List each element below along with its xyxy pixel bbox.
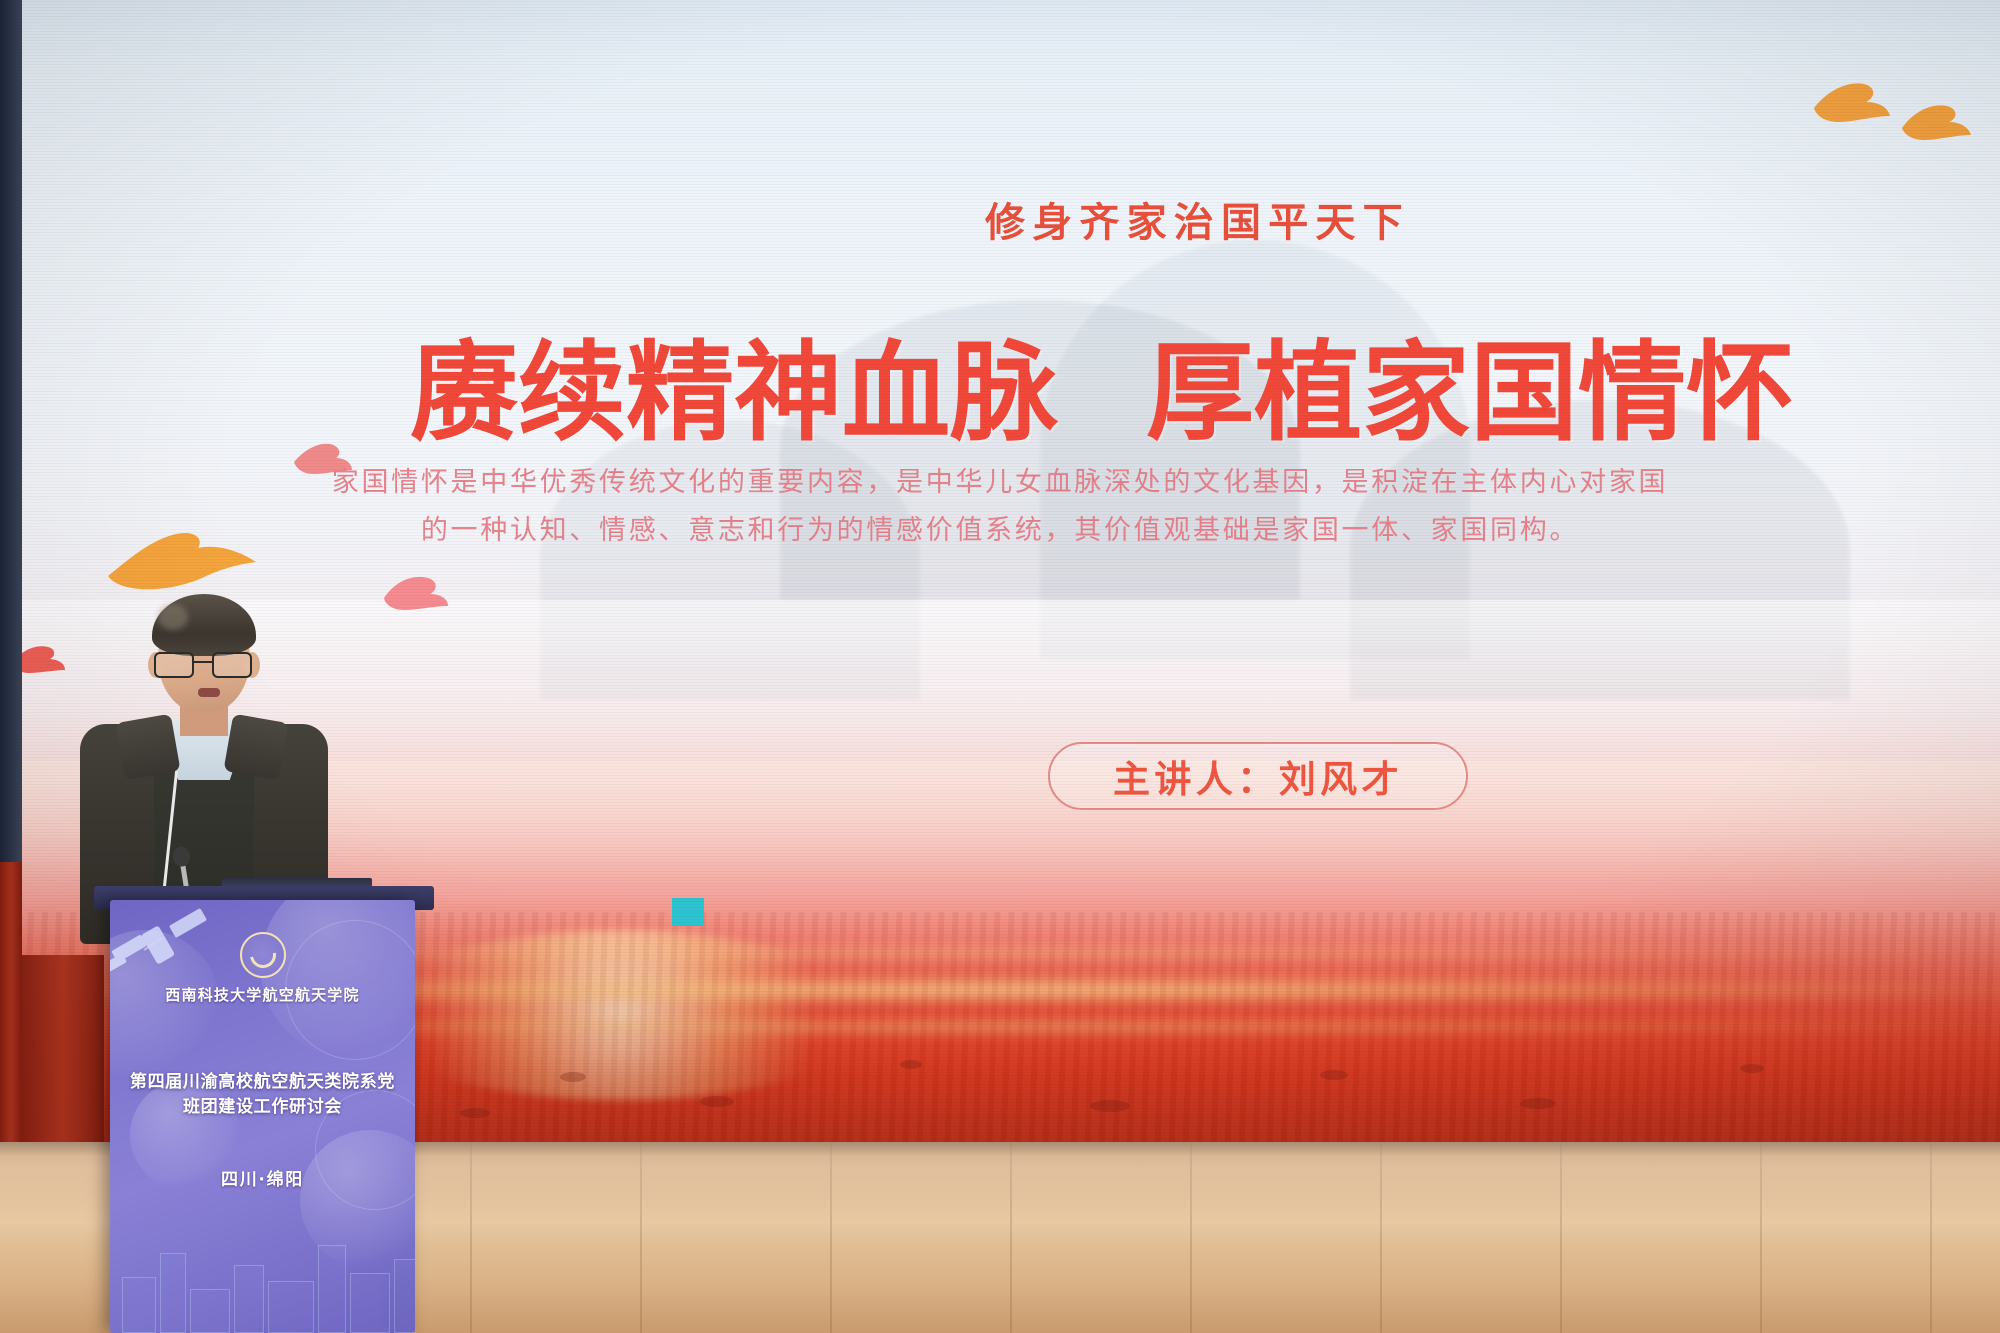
field-speck bbox=[700, 1096, 734, 1107]
podium-location: 四川·绵阳 bbox=[110, 1165, 415, 1190]
dove-pink-right-icon bbox=[380, 572, 450, 614]
hair bbox=[152, 594, 256, 656]
glasses-icon bbox=[154, 652, 254, 678]
field-speck bbox=[1740, 1064, 1764, 1073]
field-speck bbox=[1320, 1070, 1348, 1080]
swust-emblem-icon bbox=[240, 932, 286, 978]
screen-body-line-1: 家国情怀是中华优秀传统文化的重要内容，是中华儿女血脉深处的文化基因，是积淀在主体… bbox=[0, 460, 2000, 499]
field-speck bbox=[560, 1072, 586, 1082]
main-title-right: 厚植家国情怀 bbox=[1146, 330, 1794, 456]
left-red-curtain bbox=[22, 955, 104, 1145]
screen-body-line-2: 的一种认知、情感、意志和行为的情感价值系统，其价值观基础是家国一体、家国同构。 bbox=[0, 508, 2000, 547]
podium-university-name: 西南科技大学航空航天学院 bbox=[110, 984, 415, 1005]
field-speck bbox=[460, 1108, 490, 1118]
photo-stage: 修身齐家治国平天下 赓续精神血脉厚植家国情怀 家国情怀是中华优秀传统文化的重要内… bbox=[0, 0, 2000, 1333]
podium-panel: 西南科技大学航空航天学院 第四届川渝高校航空航天类院系党 班团建设工作研讨会 四… bbox=[110, 900, 415, 1333]
dove-orange-top-right-2-icon bbox=[1898, 100, 1974, 146]
main-title-left: 赓续精神血脉 bbox=[410, 330, 1058, 456]
screen-top-line: 修身齐家治国平天下 bbox=[985, 190, 1410, 248]
field-speck bbox=[1090, 1100, 1130, 1112]
podium-event-title-line1: 第四届川渝高校航空航天类院系党 bbox=[110, 1070, 415, 1095]
cyan-marker-square bbox=[672, 898, 704, 926]
screen-speaker-box: 主讲人：刘风才 bbox=[1048, 742, 1468, 810]
podium-skyline-graphic bbox=[110, 1213, 415, 1333]
left-red-curtain bbox=[0, 862, 22, 1142]
jacket-collar-left bbox=[115, 714, 180, 781]
screen-main-title: 赓续精神血脉厚植家国情怀 bbox=[410, 306, 1794, 462]
podium-event-title-line2: 班团建设工作研讨会 bbox=[110, 1095, 415, 1120]
field-speck bbox=[900, 1060, 922, 1069]
jacket-collar-right bbox=[223, 714, 288, 781]
field-speck bbox=[1520, 1098, 1556, 1109]
podium-event-title: 第四届川渝高校航空航天类院系党 班团建设工作研讨会 bbox=[110, 1070, 415, 1119]
dove-orange-top-right-1-icon bbox=[1810, 78, 1894, 128]
mouth bbox=[198, 688, 220, 697]
